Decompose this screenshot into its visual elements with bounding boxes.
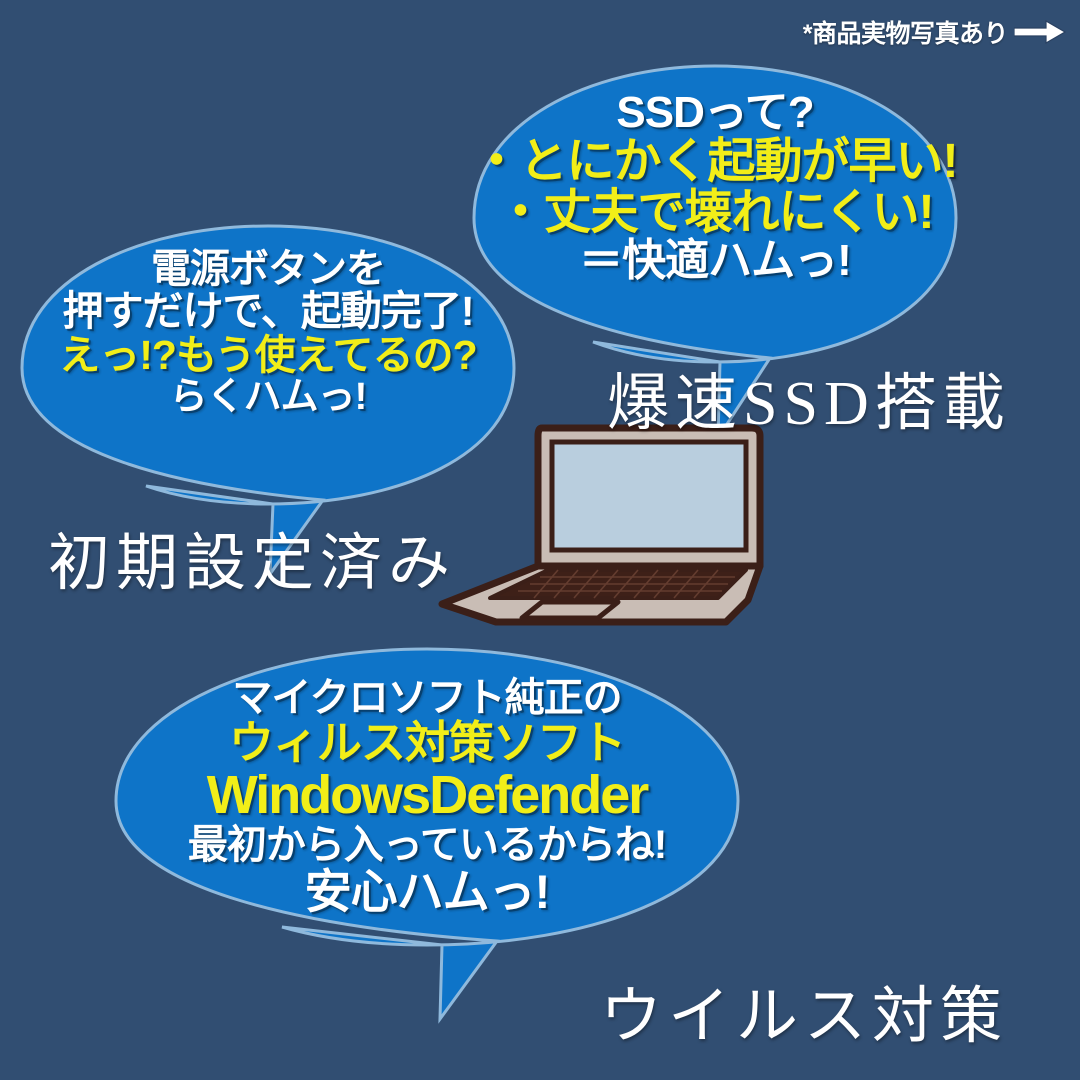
bubble-ssd-text: SSDって? ・とにかく起動が早い! ・丈夫で壊れにくい! ＝快適ハムっ!: [470, 90, 960, 285]
speech-bubble-defender: マイクロソフト純正の ウィルス対策ソフト WindowsDefender 最初か…: [112, 645, 742, 965]
poster-canvas: *商品実物写真あり SSDって? ・とにかく起動が早い! ・丈夫で壊れにくい! …: [0, 0, 1080, 1080]
caption-ssd: 爆速SSD搭載: [607, 352, 1011, 442]
bubble-line: ・とにかく起動が早い!: [470, 137, 960, 188]
speech-bubble-ssd: SSDって? ・とにかく起動が早い! ・丈夫で壊れにくい! ＝快適ハムっ!: [470, 62, 960, 382]
bubble-line: 電源ボタンを: [18, 248, 518, 290]
bubble-line: ウィルス対策ソフト: [112, 719, 742, 767]
bubble-line: WindowsDefender: [112, 767, 742, 824]
laptop-illustration: [430, 418, 770, 650]
bubble-line: 押すだけで、起動完了!: [18, 290, 518, 333]
bubble-line: SSDって?: [470, 90, 960, 137]
bubble-line: ＝快適ハムっ!: [470, 238, 960, 285]
right-arrow-icon: [1014, 20, 1066, 44]
caption-virus: ウイルス対策: [600, 965, 1008, 1055]
photo-note-label: *商品実物写真あり: [803, 14, 1008, 50]
bubble-line: えっ!?もう使えてるの?: [18, 334, 518, 377]
bubble-line: 安心ハムっ!: [112, 867, 742, 917]
bubble-line: らくハムっ!: [18, 377, 518, 417]
bubble-defender-text: マイクロソフト純正の ウィルス対策ソフト WindowsDefender 最初か…: [112, 677, 742, 917]
caption-setup: 初期設定済み: [48, 512, 456, 602]
bubble-line: 最初から入っているからね!: [112, 824, 742, 866]
bubble-line: ・丈夫で壊れにくい!: [470, 188, 960, 239]
bubble-line: マイクロソフト純正の: [112, 677, 742, 719]
bubble-startup-text: 電源ボタンを 押すだけで、起動完了! えっ!?もう使えてるの? らくハムっ!: [18, 248, 518, 418]
photo-note: *商品実物写真あり: [803, 14, 1066, 50]
